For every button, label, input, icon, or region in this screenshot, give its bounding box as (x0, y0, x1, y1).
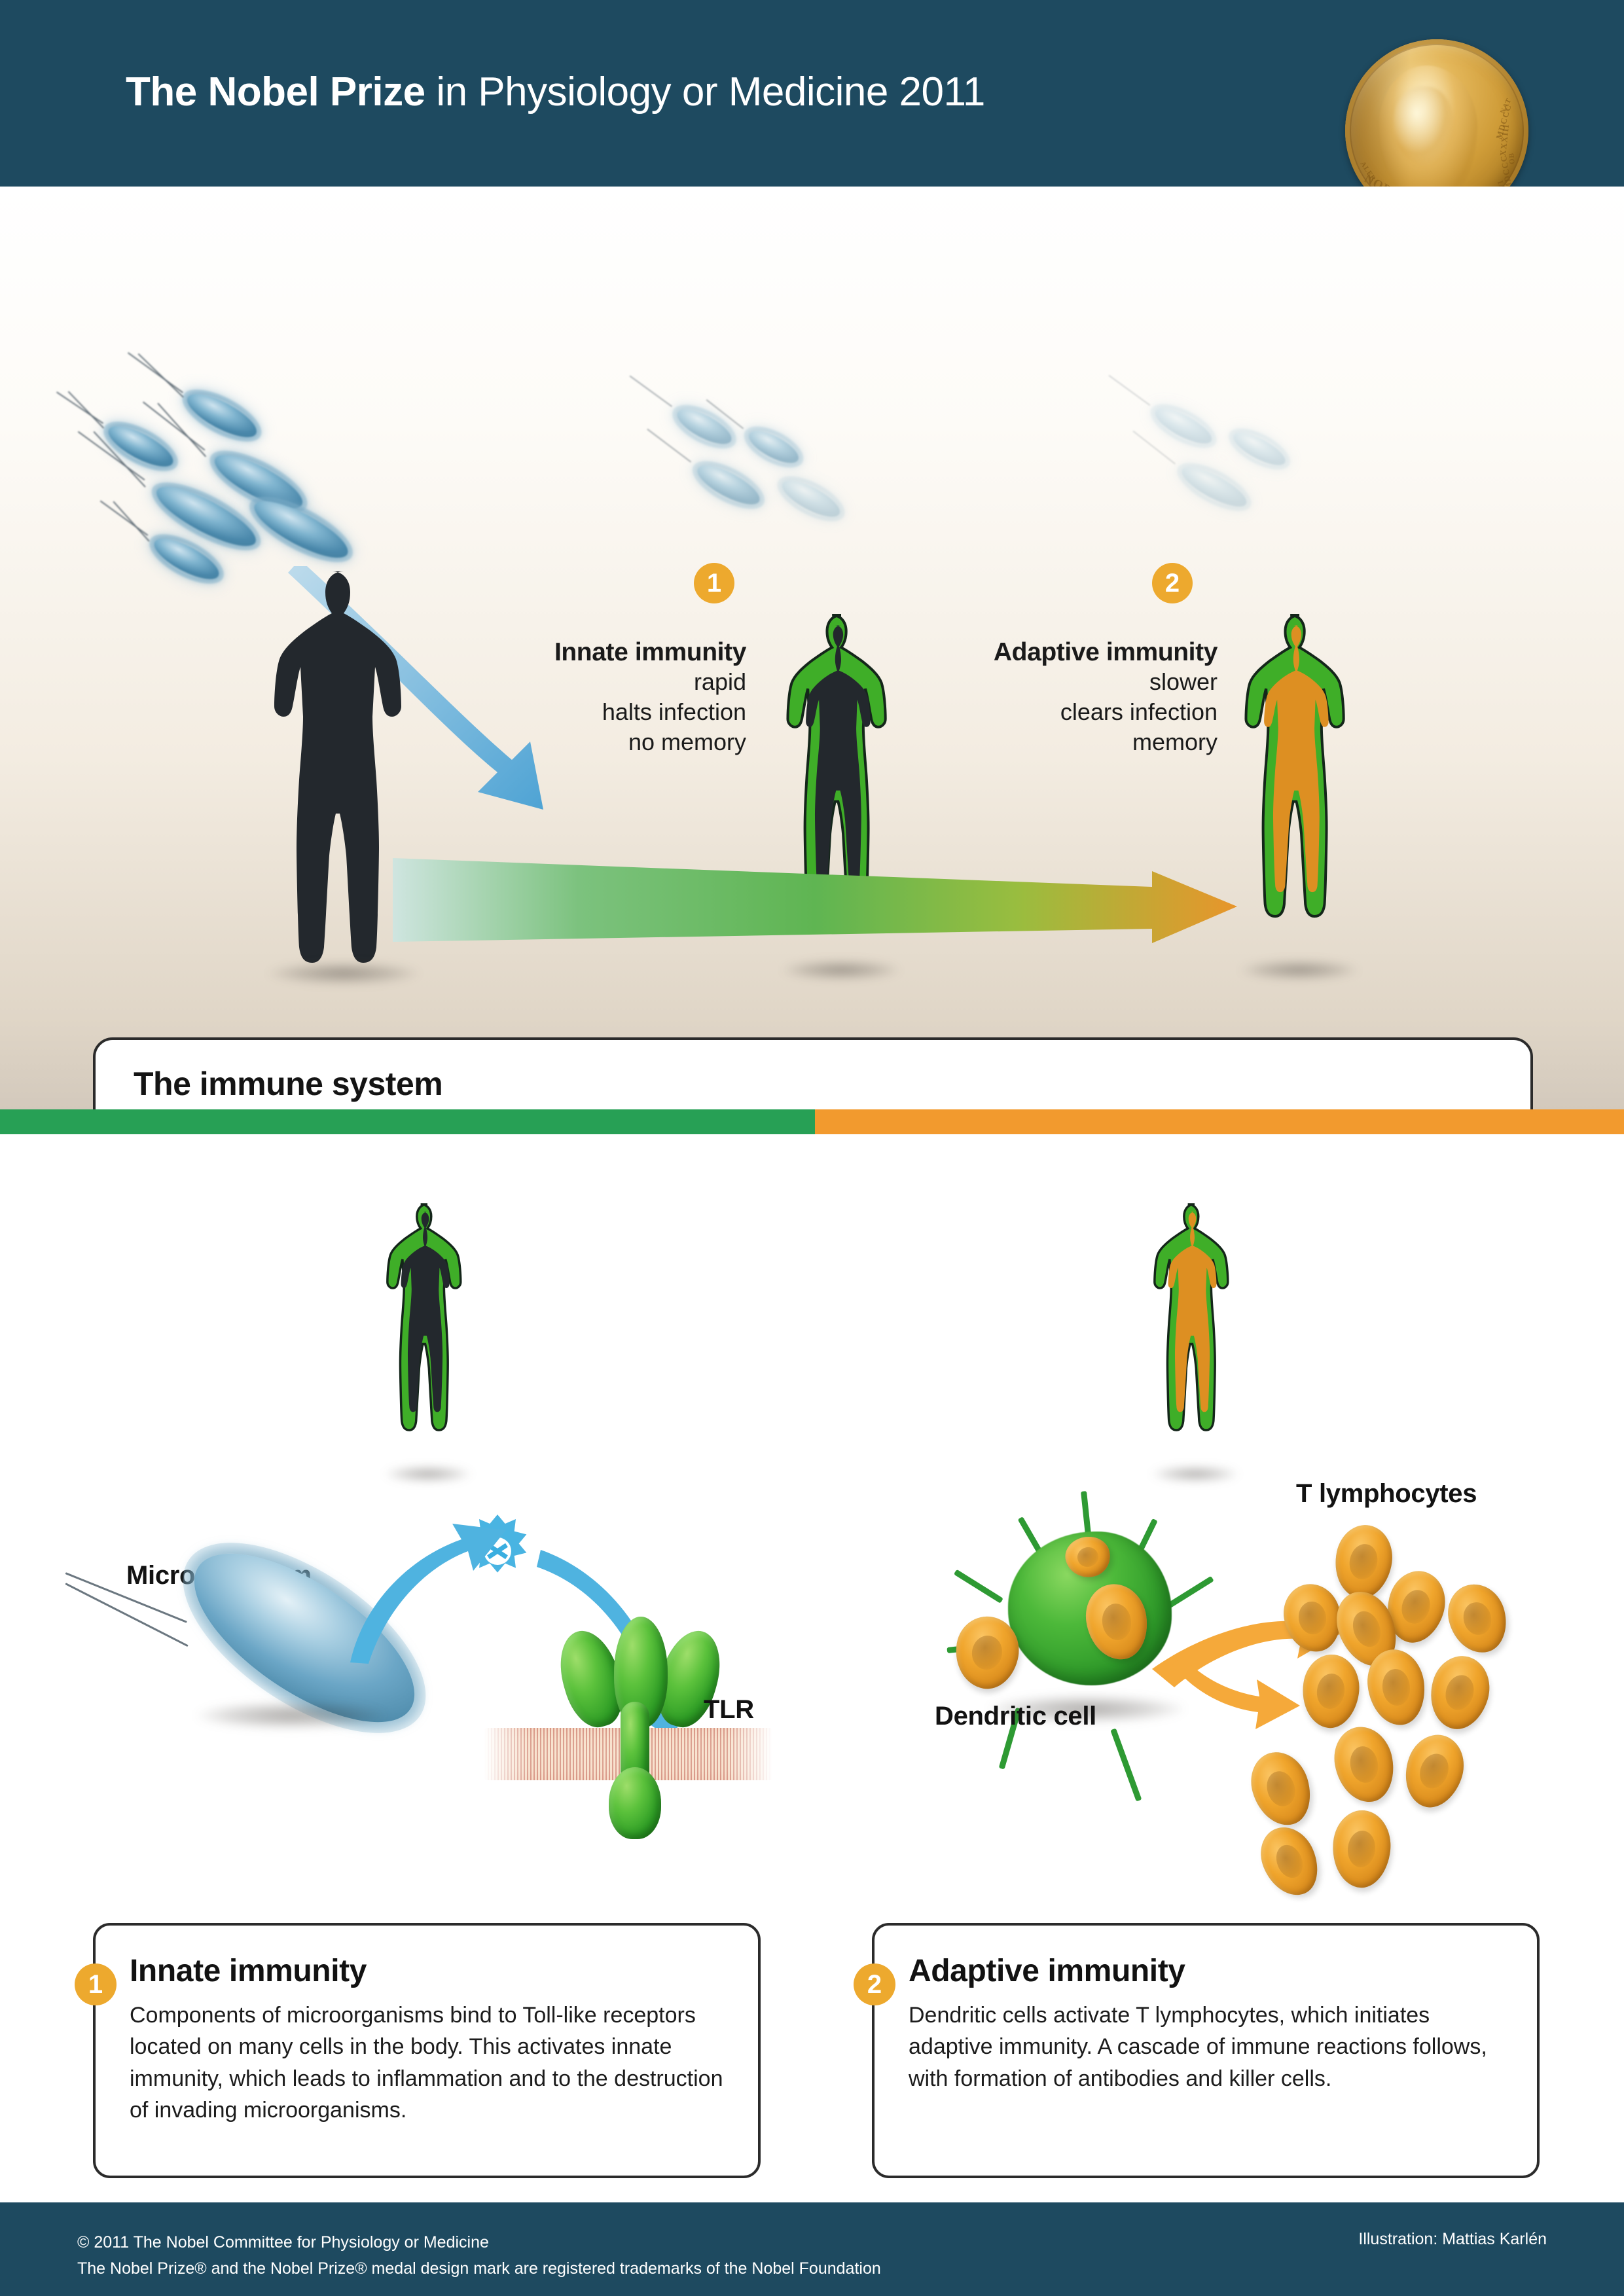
step-1-line-1: rapid (484, 667, 746, 697)
tlr-cytoplasmic-domain (609, 1767, 661, 1839)
page-header: The Nobel Prize in Physiology or Medicin… (0, 0, 1624, 187)
binding-arrow-icon-1 (337, 1518, 514, 1669)
step-2-number: 2 (1165, 569, 1180, 598)
step-1-badge: 1 (694, 563, 734, 603)
adaptive-immunity-body: Dendritic cells activate T lymphocytes, … (909, 2000, 1503, 2094)
figure-shadow (268, 962, 419, 984)
figure-shadow (1152, 1466, 1238, 1482)
divider-orange-segment (815, 1109, 1624, 1134)
innate-immunity-heading: Innate immunity (130, 1953, 758, 1989)
step-2-line-3: memory (910, 727, 1218, 757)
step-2-line-1: slower (910, 667, 1218, 697)
figure-shadow (1240, 960, 1358, 980)
step-1-label: Innate immunity rapid halts infection no… (484, 638, 746, 757)
dendritic-cell-label: Dendritic cell (935, 1702, 1096, 1731)
footer-copyright: © 2011 The Nobel Committee for Physiolog… (77, 2230, 881, 2282)
immune-system-heading: The immune system (134, 1065, 1530, 1103)
innate-immunity-body: Components of microorganisms bind to Tol… (130, 2000, 724, 2126)
figure-shadow (782, 960, 900, 980)
step-2-title: Adaptive immunity (910, 638, 1218, 667)
page-title-strong: The Nobel Prize (126, 69, 425, 115)
callout-2-number: 2 (867, 1970, 882, 2000)
tlr-label: TLR (704, 1695, 754, 1725)
step-1-number: 1 (707, 569, 721, 598)
footer-copyright-line-2: The Nobel Prize® and the Nobel Prize® me… (77, 2256, 881, 2282)
step-2-label: Adaptive immunity slower clears infectio… (910, 638, 1218, 757)
page-title-light: in Physiology or Medicine 2011 (425, 69, 985, 115)
step-1-line-3: no memory (484, 727, 746, 757)
footer-illustration-credit: Illustration: Mattias Karlén (1358, 2230, 1547, 2249)
divider-green-segment (0, 1109, 815, 1134)
section-divider (0, 1109, 1624, 1134)
human-figure-innate-small (378, 1165, 477, 1479)
page-title: The Nobel Prize in Physiology or Medicin… (126, 69, 985, 115)
callout-1-badge: 1 (75, 1964, 117, 2005)
t-lymphocytes-label: T lymphocytes (1296, 1479, 1477, 1509)
immune-system-overview-section: 1 Innate immunity rapid halts infection … (0, 187, 1624, 1109)
step-2-badge: 2 (1152, 563, 1193, 603)
immune-system-info-card: The immune system Infection of the human… (93, 1037, 1533, 1109)
page-footer: © 2011 The Nobel Committee for Physiolog… (0, 2202, 1624, 2296)
step-2-line-2: clears infection (910, 697, 1218, 727)
bacteria-swarm-right (1132, 403, 1381, 560)
figure-shadow (385, 1466, 471, 1482)
step-1-title: Innate immunity (484, 638, 746, 667)
bacteria-swarm-middle (655, 403, 903, 573)
microorganism-shadow (196, 1702, 386, 1729)
innate-immunity-callout: 1 Innate immunity Components of microorg… (93, 1923, 761, 2178)
adaptive-immunity-callout: 2 Adaptive immunity Dendritic cells acti… (872, 1923, 1540, 2178)
adaptive-immunity-heading: Adaptive immunity (909, 1953, 1537, 1989)
human-figure-adaptive-small (1146, 1165, 1244, 1479)
immunity-progress-arrow-icon (393, 841, 1283, 959)
footer-copyright-line-1: © 2011 The Nobel Committee for Physiolog… (77, 2230, 881, 2256)
step-1-line-2: halts infection (484, 697, 746, 727)
callout-1-number: 1 (88, 1970, 103, 2000)
callout-2-badge: 2 (854, 1964, 895, 2005)
